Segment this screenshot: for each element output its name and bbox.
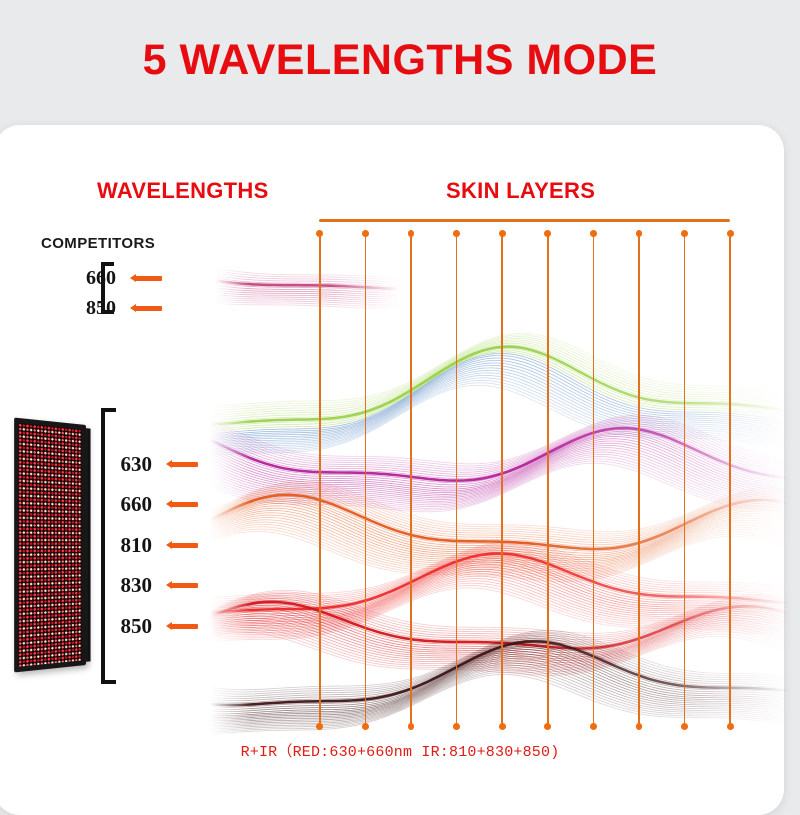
product-wavelength-row: 850 (98, 614, 198, 639)
wavelength-value: 630 (98, 452, 152, 477)
panel-led-grid (18, 423, 81, 666)
wavelength-marker-icon (134, 276, 162, 281)
wavelength-marker-icon (134, 306, 162, 311)
wavelengths-header: WAVELENGTHS (97, 178, 269, 204)
skin-layer-gridline (501, 233, 503, 727)
skin-layer-gridline (593, 233, 595, 727)
skin-layer-gridline (410, 233, 412, 727)
product-wavelength-row: 630 (98, 452, 198, 477)
wavelength-marker-icon (170, 462, 198, 467)
panel-frame (14, 418, 86, 673)
wavelength-value: 660 (98, 492, 152, 517)
competitor-wavelength-row: 850 (62, 297, 162, 320)
caption-text: R+IR（RED:630+660nm IR:810+830+850) (0, 740, 800, 761)
infographic-root: 5 WAVELENGTHS MODE WAVELENGTHS SKIN LAYE… (0, 0, 800, 800)
wavelength-marker-icon (170, 543, 198, 548)
wavelength-value: 660 (62, 267, 116, 290)
wavelength-value: 850 (62, 297, 116, 320)
skin-layer-gridline (638, 233, 640, 727)
led-panel-device (14, 425, 86, 665)
skin-layer-gridline (684, 233, 686, 727)
skin-layer-gridline (365, 233, 367, 727)
skin-layer-gridline (547, 233, 549, 727)
competitors-label: COMPETITORS (41, 235, 155, 252)
product-wavelength-row: 810 (98, 533, 198, 558)
wavelength-marker-icon (170, 624, 198, 629)
competitor-wavelength-row: 660 (62, 267, 162, 290)
skin-layers-header: SKIN LAYERS (446, 178, 595, 204)
skin-layer-gridline (319, 233, 321, 727)
page-title: 5 WAVELENGTHS MODE (0, 36, 800, 85)
wavelength-value: 810 (98, 533, 152, 558)
wavelength-value: 830 (98, 573, 152, 598)
product-wavelength-row: 830 (98, 573, 198, 598)
wavelength-marker-icon (170, 583, 198, 588)
skin-layer-gridline (729, 233, 731, 727)
skin-layer-gridline (456, 233, 458, 727)
wavelength-marker-icon (170, 502, 198, 507)
skin-layers-axis-rule (319, 219, 730, 222)
product-wavelength-row: 660 (98, 492, 198, 517)
wavelength-value: 850 (98, 614, 152, 639)
